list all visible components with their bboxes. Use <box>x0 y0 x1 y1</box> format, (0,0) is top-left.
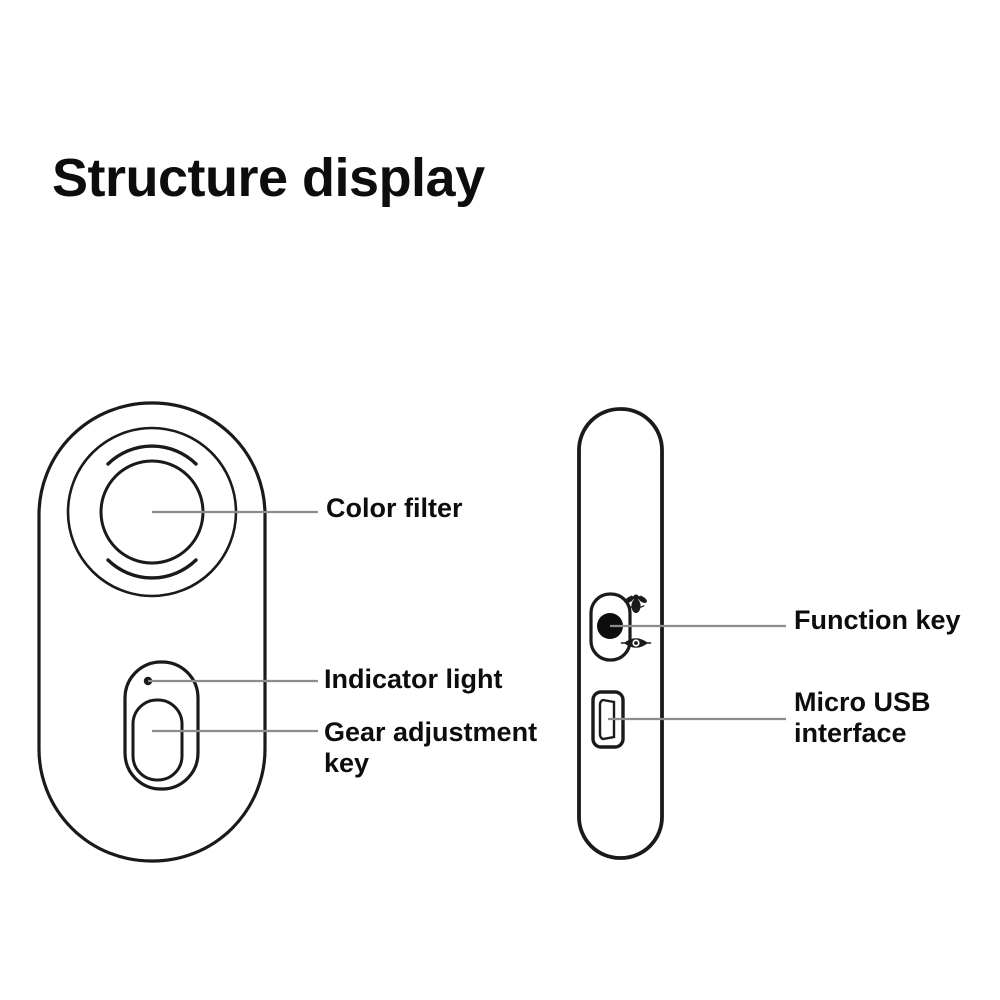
callout-label-micro-usb-interface: Micro USB interface <box>794 687 994 749</box>
device-front-view <box>39 403 318 861</box>
callout-label-color-filter: Color filter <box>326 493 463 524</box>
structure-display-page: Structure display <box>0 0 1000 1000</box>
structure-diagram <box>0 0 1000 1000</box>
gear-adjustment-button[interactable] <box>133 700 182 780</box>
device-side-view <box>579 409 786 858</box>
callout-label-gear-adjustment-key: Gear adjustment key <box>324 717 564 779</box>
callout-label-indicator-light: Indicator light <box>324 664 503 695</box>
callout-label-function-key: Function key <box>794 605 961 636</box>
